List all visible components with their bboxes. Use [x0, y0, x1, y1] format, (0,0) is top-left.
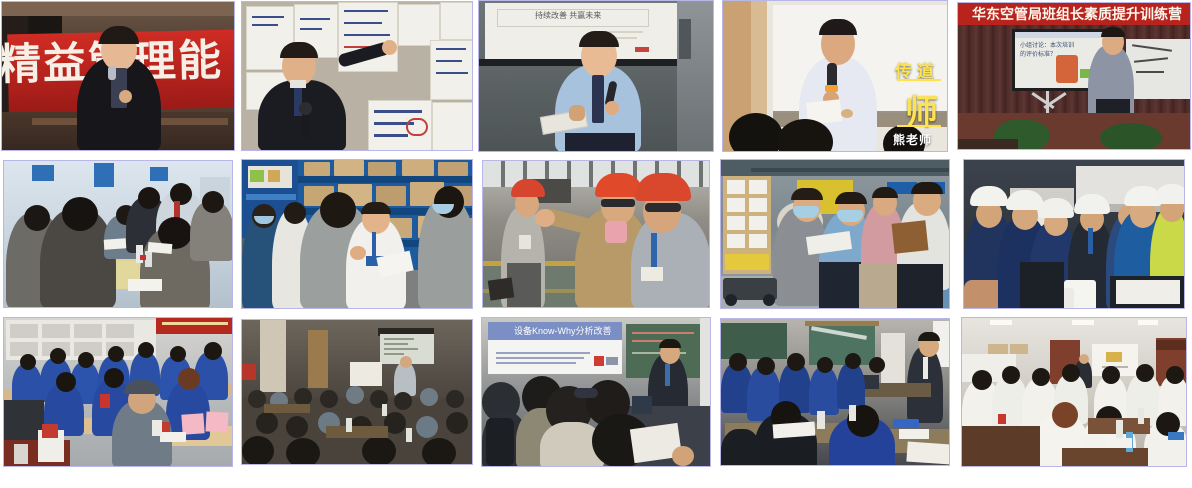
- gallery-image-r2c5[interactable]: [963, 159, 1185, 309]
- gallery-image-r2c2[interactable]: [241, 159, 473, 309]
- gallery-image-r1c2[interactable]: [241, 1, 473, 151]
- gallery-image-r1c4[interactable]: 传道 师 熊老师: [722, 0, 948, 152]
- gallery-image-r2c1[interactable]: [3, 160, 233, 308]
- overlay-text-line3-r1c4: 熊老师: [893, 131, 932, 148]
- gallery-image-r1c3[interactable]: 持续改善 共赢未来: [478, 0, 714, 152]
- gallery-cell[interactable]: [239, 316, 475, 468]
- gallery-cell[interactable]: [478, 158, 714, 310]
- gallery-image-r3c4[interactable]: [720, 318, 950, 466]
- gallery-cell[interactable]: [0, 316, 236, 468]
- gallery-cell[interactable]: 传道 师 熊老师: [717, 0, 953, 152]
- gallery-image-r1c1[interactable]: 精益管理能: [1, 1, 235, 151]
- gallery-image-r3c1[interactable]: [3, 317, 233, 467]
- slide-title-r1c3: 持续改善 共赢未来: [535, 12, 601, 20]
- gallery-image-r3c3[interactable]: 设备Know-Why分析改善: [481, 317, 711, 467]
- gallery-cell[interactable]: [956, 158, 1192, 310]
- gallery-cell[interactable]: 精益管理能: [0, 0, 236, 152]
- gallery-cell[interactable]: [0, 158, 236, 310]
- gallery-cell[interactable]: [239, 158, 475, 310]
- gallery-image-r1c5[interactable]: 华东空管局班组长素质提升训练营 小组讨论：本次培训的评价标准？: [957, 2, 1191, 150]
- banner-text-r1c5: 华东空管局班组长素质提升训练营: [972, 7, 1182, 21]
- gallery-cell[interactable]: [717, 158, 953, 310]
- gallery-image-r3c5[interactable]: [961, 317, 1187, 467]
- slide-title-r3c3: 设备Know-Why分析改善: [514, 327, 612, 336]
- gallery-cell[interactable]: 设备Know-Why分析改善: [478, 316, 714, 468]
- gallery-cell[interactable]: [717, 316, 953, 468]
- gallery-cell[interactable]: [239, 0, 475, 152]
- gallery-cell[interactable]: [956, 316, 1192, 468]
- gallery-cell[interactable]: 华东空管局班组长素质提升训练营 小组讨论：本次培训的评价标准？: [956, 0, 1192, 152]
- gallery-image-r2c3[interactable]: [482, 160, 710, 308]
- gallery-image-r2c4[interactable]: [720, 159, 950, 309]
- gallery-image-r3c2[interactable]: [241, 319, 473, 465]
- gallery-cell[interactable]: 持续改善 共赢未来: [478, 0, 714, 152]
- image-gallery-grid: 精益管理能: [0, 0, 1192, 488]
